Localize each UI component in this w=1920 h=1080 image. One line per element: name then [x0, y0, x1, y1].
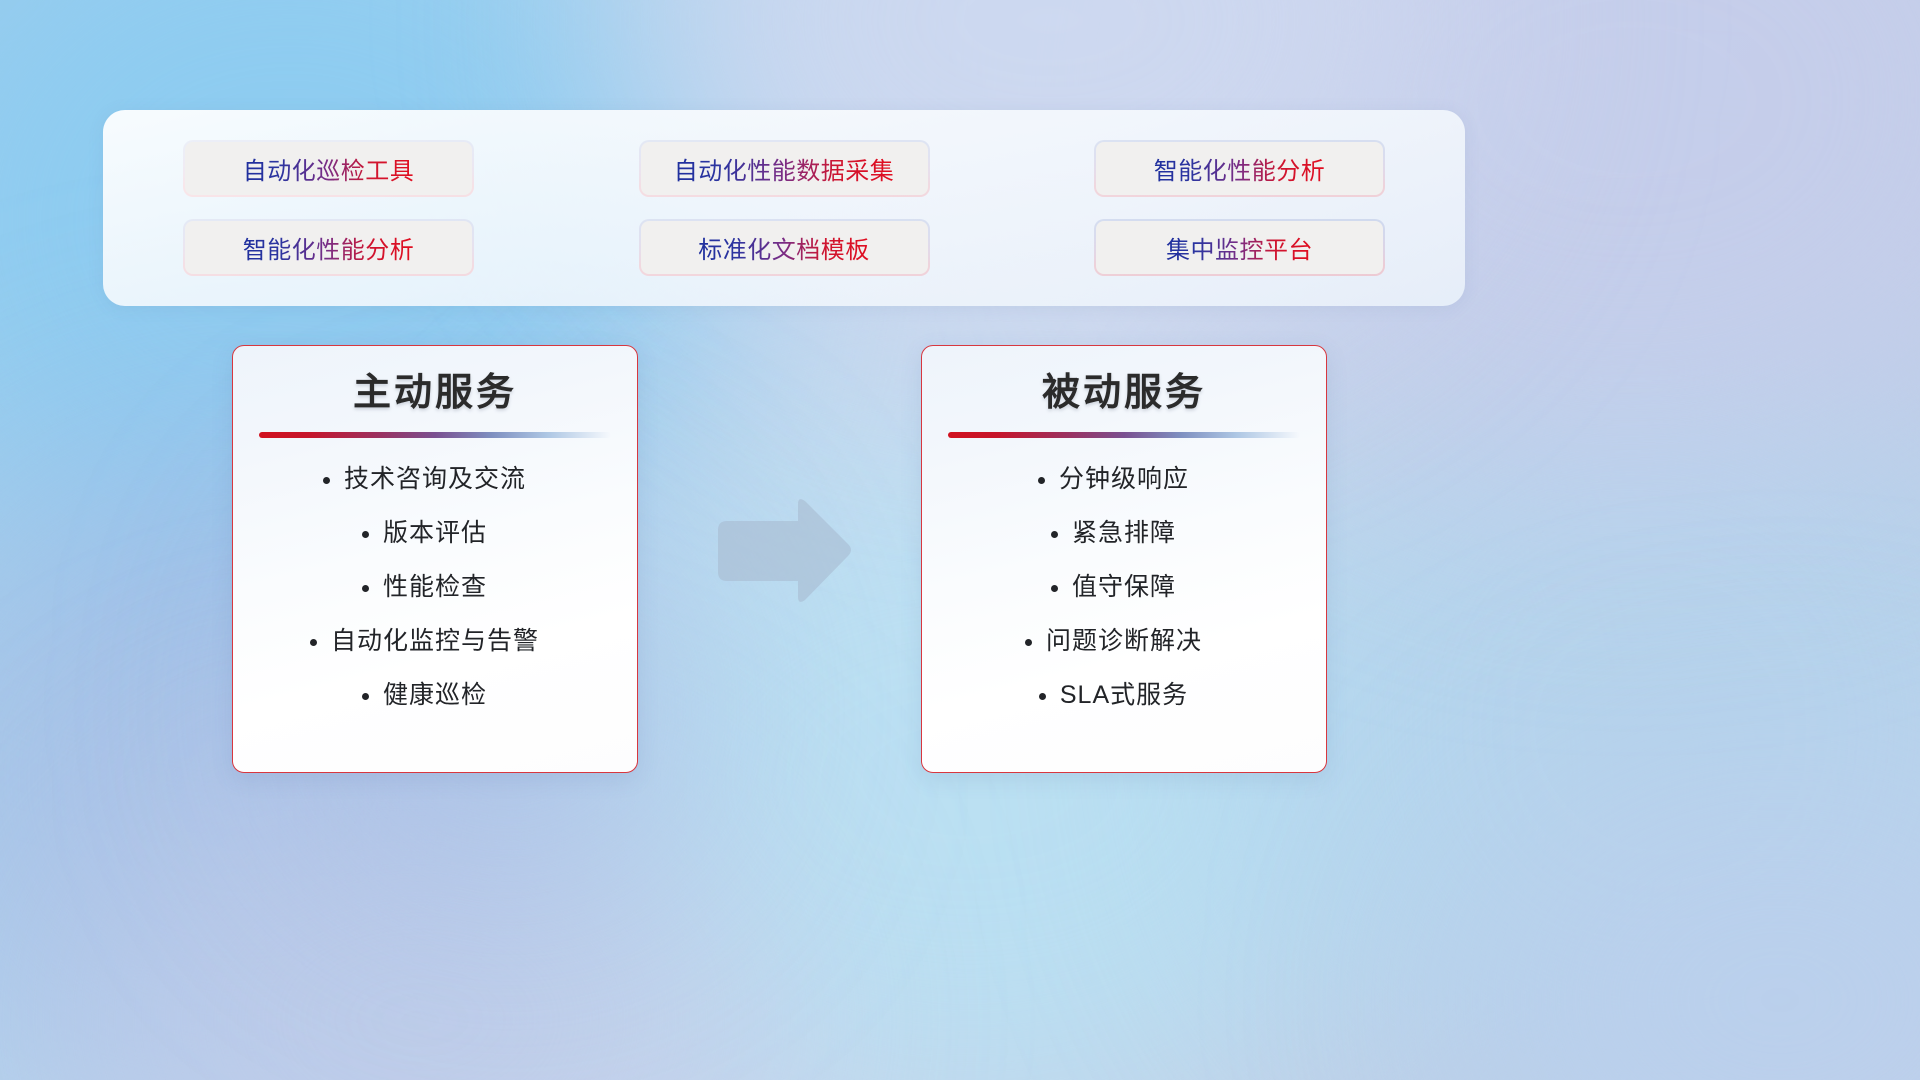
card-item-list: 技术咨询及交流 版本评估 性能检查 自动化监控与告警 健康巡检 — [233, 464, 637, 710]
tools-row-2: 智能化性能分析 标准化文档模板 集中监控平台 — [183, 219, 1385, 276]
card-title-underline — [259, 432, 611, 438]
tool-chip-label: 标准化文档模板 — [698, 230, 870, 265]
card-item-list: 分钟级响应 紧急排障 值守保障 问题诊断解决 SLA式服务 — [922, 464, 1326, 710]
tool-chip-intelligent-performance-analysis[interactable]: 智能化性能分析 — [1094, 140, 1385, 197]
tool-chip-label: 集中监控平台 — [1166, 230, 1313, 265]
list-item: 问题诊断解决 — [1046, 626, 1202, 656]
card-title: 主动服务 — [353, 370, 517, 418]
service-card-proactive[interactable]: 主动服务 技术咨询及交流 版本评估 性能检查 自动化监控与告警 健康巡检 — [232, 345, 638, 773]
tool-chip-label: 智能化性能分析 — [243, 230, 415, 265]
list-item: 自动化监控与告警 — [331, 626, 539, 656]
tool-chip-automated-inspection[interactable]: 自动化巡检工具 — [183, 140, 474, 197]
list-item: 值守保障 — [1072, 572, 1176, 602]
tools-panel: 自动化巡检工具 自动化性能数据采集 智能化性能分析 智能化性能分析 标准化文档模… — [103, 110, 1465, 306]
flow-arrow-right-icon — [714, 497, 854, 607]
list-item: 紧急排障 — [1072, 518, 1176, 548]
tool-chip-label: 智能化性能分析 — [1154, 151, 1326, 186]
tool-chip-standardized-doc-template[interactable]: 标准化文档模板 — [639, 219, 930, 276]
service-card-reactive[interactable]: 被动服务 分钟级响应 紧急排障 值守保障 问题诊断解决 SLA式服务 — [921, 345, 1327, 773]
card-title-underline — [948, 432, 1300, 438]
list-item: 健康巡检 — [383, 680, 487, 710]
tool-chip-intelligent-performance-analysis-2[interactable]: 智能化性能分析 — [183, 219, 474, 276]
tool-chip-automated-performance-collection[interactable]: 自动化性能数据采集 — [639, 140, 930, 197]
list-item: 分钟级响应 — [1059, 464, 1189, 494]
tool-chip-centralized-monitoring-platform[interactable]: 集中监控平台 — [1094, 219, 1385, 276]
tool-chip-label: 自动化巡检工具 — [243, 151, 415, 186]
tools-row-1: 自动化巡检工具 自动化性能数据采集 智能化性能分析 — [183, 140, 1385, 197]
list-item: SLA式服务 — [1060, 680, 1188, 710]
tool-chip-label: 自动化性能数据采集 — [674, 151, 895, 186]
list-item: 性能检查 — [383, 572, 487, 602]
card-title: 被动服务 — [1042, 370, 1206, 418]
list-item: 技术咨询及交流 — [344, 464, 526, 494]
list-item: 版本评估 — [383, 518, 487, 548]
slide-stage: 自动化巡检工具 自动化性能数据采集 智能化性能分析 智能化性能分析 标准化文档模… — [0, 0, 1920, 1080]
